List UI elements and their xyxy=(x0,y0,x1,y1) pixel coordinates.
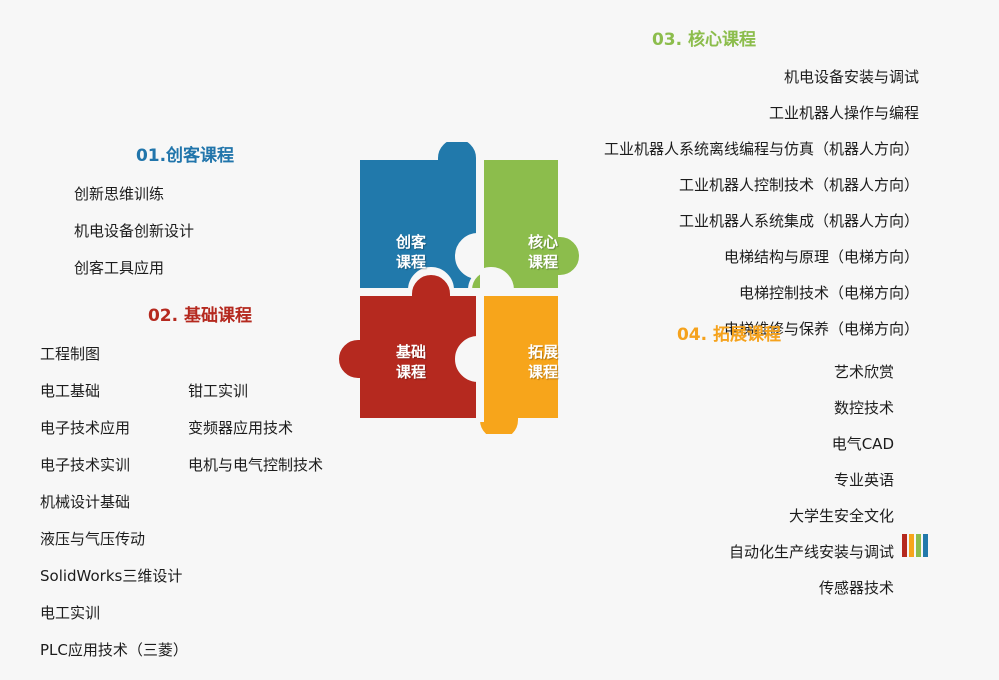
list-item: 大学生安全文化 xyxy=(564,509,894,524)
puzzle-piece-foundation[interactable] xyxy=(337,273,478,420)
puzzle-piece-maker[interactable] xyxy=(358,142,478,290)
group-core-title: 03. 核心课程 xyxy=(489,32,919,49)
list-item: 机电设备安装与调试 xyxy=(489,70,919,85)
color-bar-blue xyxy=(923,534,928,557)
table-row: 液压与气压传动 xyxy=(40,532,360,547)
color-bar-green xyxy=(916,534,921,557)
group-maker-items: 创新思维训练 机电设备创新设计 创客工具应用 xyxy=(60,187,310,276)
puzzle-svg xyxy=(332,142,624,434)
table-row: 电工实训 xyxy=(40,606,360,621)
list-item: 电工基础 xyxy=(40,384,188,399)
infographic-canvas: 01.创客课程 创新思维训练 机电设备创新设计 创客工具应用 02. 基础课程 … xyxy=(0,0,999,621)
list-item: 电机与电气控制技术 xyxy=(188,458,360,473)
group-maker-courses: 01.创客课程 创新思维训练 机电设备创新设计 创客工具应用 xyxy=(60,148,310,298)
list-item: 自动化生产线安装与调试 xyxy=(564,545,894,560)
table-row: 工程制图 xyxy=(40,347,360,362)
list-item: 工业机器人操作与编程 xyxy=(489,106,919,121)
list-item: 创新思维训练 xyxy=(74,187,310,202)
list-item: 机电设备创新设计 xyxy=(74,224,310,239)
puzzle-diagram: 创客 课程 核心 课程 基础 课程 拓展 课程 xyxy=(332,142,624,434)
list-item: 液压与气压传动 xyxy=(40,532,188,547)
color-bar-red xyxy=(902,534,907,557)
group-foundation-courses: 02. 基础课程 工程制图 电工基础 钳工实训 电子技术应用 变频器应用技术 电… xyxy=(40,308,360,680)
list-item: 专业英语 xyxy=(564,473,894,488)
list-item: 电工实训 xyxy=(40,606,188,621)
list-item: 电子技术实训 xyxy=(40,458,188,473)
list-item: 电气CAD xyxy=(564,437,894,452)
table-row: PLC应用技术（三菱） xyxy=(40,643,360,658)
table-row: 电子技术应用 变频器应用技术 xyxy=(40,421,360,436)
table-row: SolidWorks三维设计 xyxy=(40,569,360,584)
color-bar-marker xyxy=(902,534,928,557)
group-foundation-title: 02. 基础课程 xyxy=(40,308,360,325)
puzzle-piece-extension[interactable] xyxy=(478,294,560,434)
list-item: 机械设计基础 xyxy=(40,495,188,510)
puzzle-piece-core[interactable] xyxy=(470,158,581,290)
list-item: PLC应用技术（三菱） xyxy=(40,643,188,658)
table-row: 电工基础 钳工实训 xyxy=(40,384,360,399)
group-foundation-items: 工程制图 电工基础 钳工实训 电子技术应用 变频器应用技术 电子技术实训 电机与… xyxy=(40,347,360,658)
table-row: 机械设计基础 xyxy=(40,495,360,510)
list-item: 电子技术应用 xyxy=(40,421,188,436)
list-item: 传感器技术 xyxy=(564,581,894,596)
list-item: SolidWorks三维设计 xyxy=(40,569,188,584)
list-item: 创客工具应用 xyxy=(74,261,310,276)
table-row: 电子技术实训 电机与电气控制技术 xyxy=(40,458,360,473)
group-maker-title: 01.创客课程 xyxy=(60,148,310,165)
list-item: 工程制图 xyxy=(40,347,188,362)
color-bar-orange xyxy=(909,534,914,557)
